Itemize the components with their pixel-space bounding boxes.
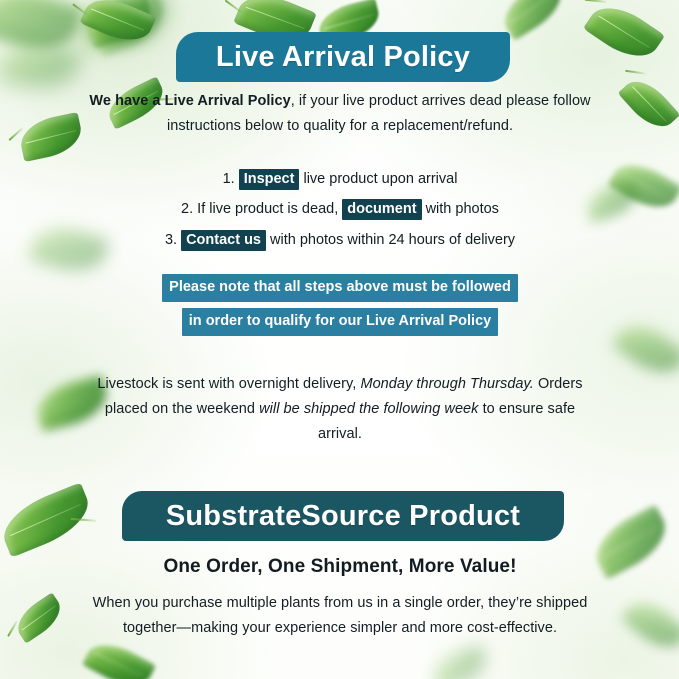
value-proposition-heading: One Order, One Shipment, More Value! xyxy=(72,556,608,578)
note-line-1: Please note that all steps above must be… xyxy=(162,274,518,302)
list-item: 3. Contact us with photos within 24 hour… xyxy=(60,225,620,255)
substrate-source-banner-title: SubstrateSource Product xyxy=(166,500,520,533)
step-number: 3. xyxy=(165,232,177,248)
leaf-icon xyxy=(583,0,665,69)
leaf-icon xyxy=(0,0,84,61)
step-text: with photos xyxy=(426,201,499,217)
value-proposition-paragraph: When you purchase multiple plants from u… xyxy=(72,591,608,641)
list-item: 1. Inspect live product upon arrival xyxy=(60,164,620,194)
step-text: with photos within 24 hours of delivery xyxy=(270,232,515,248)
leaf-icon xyxy=(86,0,171,56)
leaf-icon xyxy=(10,592,67,643)
step-text: live product upon arrival xyxy=(303,171,457,187)
leaf-icon xyxy=(611,314,679,385)
leaf-icon xyxy=(81,0,151,49)
policy-note-block: Please note that all steps above must be… xyxy=(60,274,620,342)
leaf-icon xyxy=(0,36,81,95)
step-number: 2. xyxy=(181,201,193,217)
step-highlight-document: document xyxy=(342,199,421,220)
step-highlight-contact-us[interactable]: Contact us xyxy=(181,230,266,251)
substrate-source-product-banner: SubstrateSource Product xyxy=(122,491,564,541)
steps-list: 1. Inspect live product upon arrival 2. … xyxy=(60,164,620,255)
step-highlight-inspect: Inspect xyxy=(239,169,300,190)
leaf-icon xyxy=(81,0,157,52)
intro-paragraph: We have a Live Arrival Policy, if your l… xyxy=(62,89,618,139)
leaf-icon xyxy=(84,0,156,48)
shipping-schedule-paragraph: Livestock is sent with overnight deliver… xyxy=(88,372,592,447)
leaf-icon xyxy=(620,592,679,658)
live-arrival-policy-banner: Live Arrival Policy xyxy=(176,32,510,82)
note-line-2: in order to qualify for our Live Arrival… xyxy=(182,308,498,336)
shipping-line1-italic: Monday through Thursday. xyxy=(360,376,533,392)
step-number: 1. xyxy=(223,171,235,187)
live-arrival-policy-infographic: Live Arrival Policy We have a Live Arriv… xyxy=(0,0,679,679)
leaf-icon xyxy=(80,0,157,50)
leaf-icon xyxy=(0,482,97,557)
leaf-icon xyxy=(426,643,491,679)
step-text-before: If live product is dead, xyxy=(197,201,338,217)
leaf-icon xyxy=(79,0,173,52)
list-item: 2. If live product is dead, document wit… xyxy=(60,194,620,224)
leaf-icon xyxy=(618,72,679,137)
leaf-icon xyxy=(82,634,156,679)
live-arrival-policy-banner-title: Live Arrival Policy xyxy=(216,41,470,74)
shipping-line2-italic: will be shipped the following week xyxy=(259,401,478,417)
leaf-icon xyxy=(80,0,140,46)
intro-lead-bold: We have a Live Arrival Policy xyxy=(89,93,290,109)
shipping-line1-plain: Livestock is sent with overnight deliver… xyxy=(97,376,356,392)
